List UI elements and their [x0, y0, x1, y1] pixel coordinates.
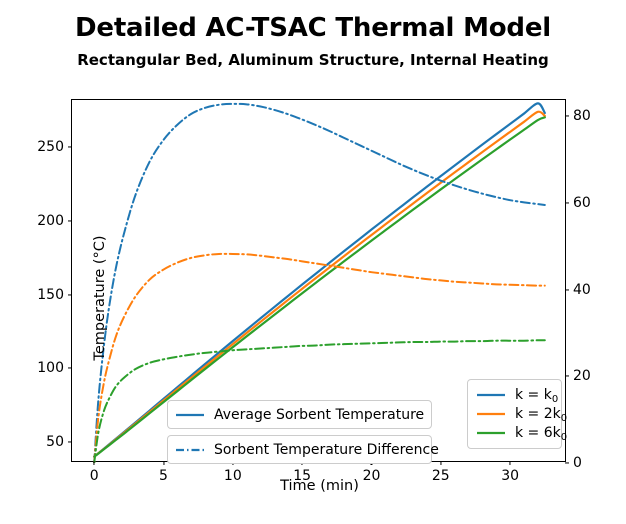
legend-swatch-icon	[175, 409, 205, 421]
y-tick-label-right: 40	[573, 282, 591, 298]
legend-item-subscript: 0	[561, 432, 567, 443]
x-tick-mark	[510, 461, 511, 465]
legend-average-temperature: Average Sorbent Temperature	[167, 400, 432, 429]
plot-area: Temperature (°C) Temperature Difference …	[71, 99, 566, 462]
x-tick-label: 0	[90, 468, 99, 484]
legend-item-subscript: 0	[561, 413, 567, 424]
y-tick-label-right: 0	[573, 455, 582, 471]
x-tick-label: 30	[501, 468, 519, 484]
legend-item-label: k = 2k0	[515, 406, 567, 422]
x-tick-label: 15	[293, 468, 311, 484]
y-tick-label-right: 20	[573, 368, 591, 384]
x-tick-label: 20	[363, 468, 381, 484]
legend-item-label: Average Sorbent Temperature	[214, 407, 424, 423]
chart-title: Detailed AC-TSAC Thermal Model	[0, 14, 626, 43]
x-tick-label: 10	[224, 468, 242, 484]
x-tick-mark	[440, 461, 441, 465]
chart-subtitle: Rectangular Bed, Aluminum Structure, Int…	[0, 52, 626, 69]
y-tick-label-left: 50	[46, 434, 64, 450]
x-tick-mark	[94, 461, 95, 465]
y-tick-mark-left	[68, 441, 72, 442]
legend-temperature-difference: Sorbent Temperature Difference	[167, 435, 432, 464]
y-tick-label-right: 60	[573, 195, 591, 211]
legend-swatch-icon	[175, 444, 205, 456]
legend-item: k = k0	[476, 385, 553, 404]
legend-item-label: Sorbent Temperature Difference	[214, 442, 439, 458]
chart-figure: Detailed AC-TSAC Thermal Model Rectangul…	[0, 0, 626, 524]
y-tick-mark-right	[565, 202, 569, 203]
legend-item: Average Sorbent Temperature	[175, 405, 424, 424]
legend-item-label: k = k0	[515, 387, 558, 403]
y-tick-mark-left	[68, 147, 72, 148]
y-tick-label-right: 80	[573, 108, 591, 124]
legend-conductivity-series: k = k0k = 2k0k = 6k0	[467, 379, 562, 449]
y-tick-label-left: 150	[37, 287, 64, 303]
y-axis-label-left: Temperature (°C)	[92, 188, 108, 408]
y-tick-mark-left	[68, 220, 72, 221]
legend-swatch-icon	[476, 389, 506, 401]
y-tick-mark-right	[565, 376, 569, 377]
x-axis-label: Time (min)	[72, 478, 567, 494]
x-tick-label: 25	[432, 468, 450, 484]
y-tick-label-left: 250	[37, 139, 64, 155]
y-tick-mark-left	[68, 294, 72, 295]
y-tick-mark-right	[565, 115, 569, 116]
y-tick-mark-right	[565, 462, 569, 463]
legend-item-subscript: 0	[552, 394, 558, 405]
x-tick-mark	[163, 461, 164, 465]
legend-swatch-icon	[476, 408, 506, 420]
legend-item: k = 6k0	[476, 423, 553, 442]
y-tick-mark-right	[565, 289, 569, 290]
y-tick-label-left: 100	[37, 360, 64, 376]
legend-item-label: k = 6k0	[515, 425, 567, 441]
y-tick-label-left: 200	[37, 213, 64, 229]
legend-item: Sorbent Temperature Difference	[175, 440, 424, 459]
y-tick-mark-left	[68, 368, 72, 369]
legend-item: k = 2k0	[476, 404, 553, 423]
legend-swatch-icon	[476, 427, 506, 439]
x-tick-label: 5	[159, 468, 168, 484]
